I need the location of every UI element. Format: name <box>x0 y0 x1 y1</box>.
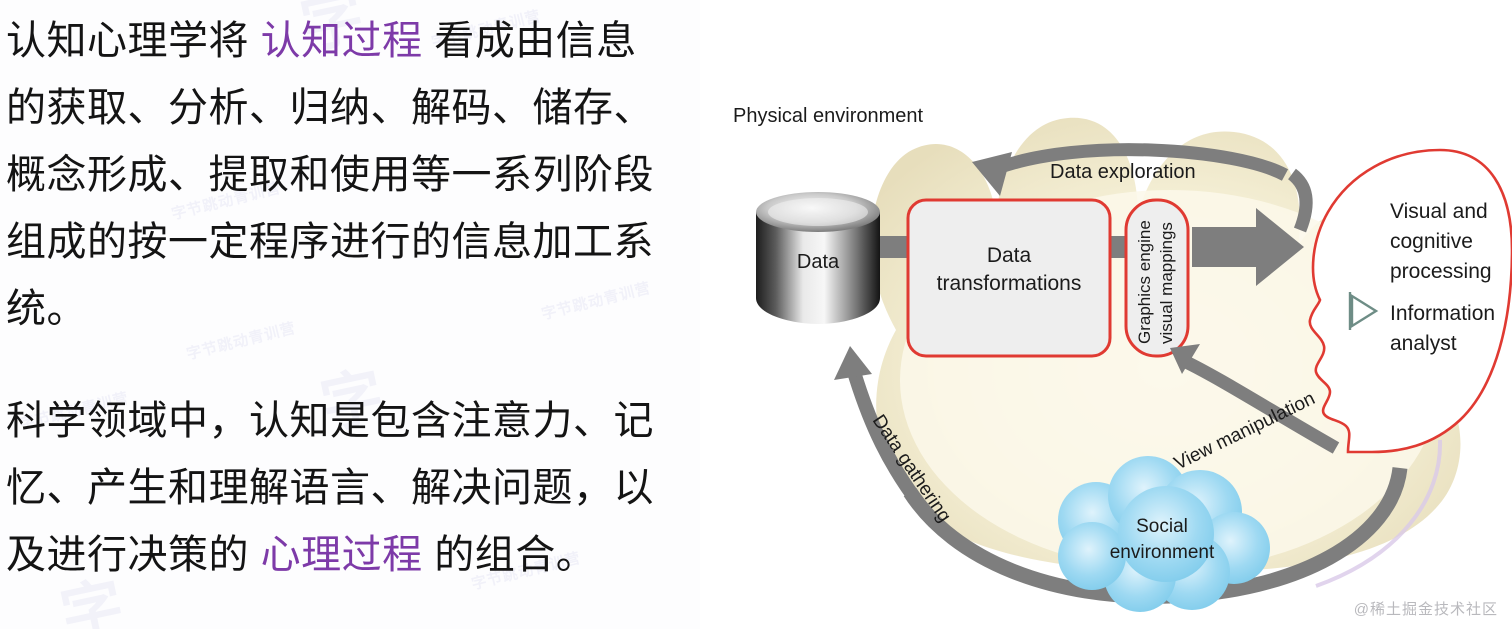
label-graphics-engine: Graphics engine <box>1135 220 1154 344</box>
label-head-line2: cognitive <box>1390 230 1473 253</box>
node-data-store: Data <box>756 192 880 324</box>
label-visual-mappings: visual mappings <box>1157 222 1176 344</box>
node-graphics-engine: Graphics engine visual mappings <box>1126 200 1188 356</box>
para2-seg-2: 的组合。 <box>423 533 597 577</box>
label-head-line5: analyst <box>1390 332 1457 355</box>
slide-root: 字 字 字节跳动青训营 字节跳动青训营 字节跳动青训营 字 字节跳动青训营 字节… <box>0 0 1512 629</box>
paragraph-cognition-definition: 科学领域中，认知是包含注意力、记忆、产生和理解语言、解决问题，以及进行决策的 心… <box>6 388 666 589</box>
label-data-transformations-line1: Data <box>987 244 1032 267</box>
text-column: 认知心理学将 认知过程 看成由信息的获取、分析、归纳、解码、储存、概念形成、提取… <box>0 0 700 629</box>
label-social-environment-line2: environment <box>1110 542 1215 563</box>
visualization-pipeline-diagram: Physical environment Data exploration <box>700 0 1512 629</box>
label-data-store: Data <box>797 251 840 273</box>
label-physical-environment: Physical environment <box>733 105 924 127</box>
para2-highlight-mental-process: 心理过程 <box>261 533 423 577</box>
label-data-transformations-line2: transformations <box>937 272 1082 295</box>
node-data-transformations: Data transformations <box>908 200 1110 356</box>
para1-seg-0: 认知心理学将 <box>6 19 261 63</box>
label-social-environment-line1: Social <box>1136 516 1188 537</box>
para1-seg-2: 看成由信息的获取、分析、归纳、解码、储存、概念形成、提取和使用等一系列阶段组成的… <box>6 19 654 331</box>
paragraph-cognitive-process: 认知心理学将 认知过程 看成由信息的获取、分析、归纳、解码、储存、概念形成、提取… <box>6 8 666 343</box>
label-data-exploration: Data exploration <box>1050 161 1196 183</box>
node-information-analyst-head: Visual and cognitive processing Informat… <box>1310 150 1512 452</box>
label-head-line1: Visual and <box>1390 200 1488 223</box>
label-head-line4: Information <box>1390 302 1495 325</box>
diagram-pane: Physical environment Data exploration <box>700 0 1512 629</box>
label-head-line3: processing <box>1390 260 1492 283</box>
watermark-credit: @稀土掘金技术社区 <box>1354 598 1498 619</box>
para1-highlight-cognitive-process: 认知过程 <box>261 19 423 63</box>
